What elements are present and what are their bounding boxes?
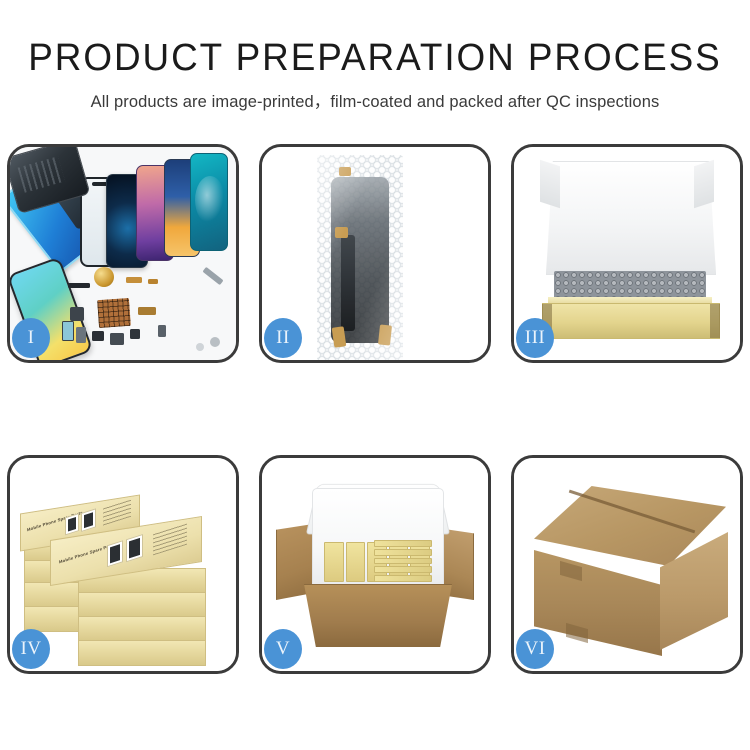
process-step-card-4[interactable]: Mobile Phone Spare Parts Mobile Phone Sp…: [7, 455, 239, 674]
process-step-card-2[interactable]: II: [259, 144, 491, 363]
process-step-card-1[interactable]: I: [7, 144, 239, 363]
spare-part-piece: [70, 307, 84, 321]
carton-left-face: [534, 550, 662, 656]
spare-part-piece: [62, 321, 74, 341]
box-label-screen-image: [107, 540, 123, 567]
page-title: PRODUCT PREPARATION PROCESS: [11, 38, 739, 78]
box-label-screen-image: [126, 534, 143, 562]
tape-tab: [378, 324, 392, 345]
step-badge-5: V: [264, 629, 302, 669]
spare-part-piece: [210, 337, 220, 347]
spare-part-piece: [126, 277, 142, 283]
logic-board-chip: [97, 298, 131, 328]
step-badge-2: II: [264, 318, 302, 358]
tweezers-tool: [202, 267, 223, 285]
tape-tab: [332, 326, 347, 347]
box-stack: Mobile Phone Spare Parts Mobile Phone Sp…: [16, 476, 236, 666]
spare-part-piece: [76, 327, 86, 343]
carton-body: [304, 584, 452, 647]
page-subtitle: All products are image-printed，film-coat…: [0, 88, 750, 112]
process-step-grid: I II III: [0, 144, 750, 674]
yellow-boxes-stacked: [374, 540, 432, 582]
spare-part-piece: [130, 329, 140, 339]
stacked-box: [78, 616, 206, 642]
tape-tab: [335, 227, 348, 238]
step-badge-1: I: [12, 318, 50, 358]
page-header: PRODUCT PREPARATION PROCESS All products…: [0, 0, 750, 112]
spare-part-piece: [138, 307, 156, 315]
box-label-spec-lines: [153, 523, 187, 556]
yellow-box-front: [542, 303, 720, 339]
step-badge-6: VI: [516, 629, 554, 669]
process-step-card-3[interactable]: III: [511, 144, 743, 363]
process-step-card-5[interactable]: V: [259, 455, 491, 674]
flex-cable: [341, 235, 355, 331]
stacked-box: [78, 640, 206, 666]
vibration-motor-part: [94, 267, 114, 287]
screen-assembly: [331, 177, 389, 343]
box-lid-flap-right: [694, 160, 714, 208]
spare-part-piece: [196, 343, 204, 351]
tape-tab: [339, 167, 351, 176]
step-badge-4: IV: [12, 629, 50, 669]
box-label-screen-image: [81, 508, 96, 532]
box-label-spec-lines: [103, 499, 131, 526]
box-label-screen-image: [65, 513, 79, 535]
spare-part-piece: [92, 331, 104, 341]
spare-part-piece: [148, 279, 158, 284]
phone-teal-gradient: [190, 153, 228, 251]
spare-part-piece: [158, 325, 166, 337]
spare-part-piece: [68, 283, 90, 288]
spare-part-piece: [110, 333, 124, 345]
box-lid-flap-left: [540, 160, 560, 208]
box-inner-lid: [546, 161, 716, 275]
process-step-card-6[interactable]: VI: [511, 455, 743, 674]
bubble-wrap-bag: [317, 155, 403, 360]
stacked-box: [78, 592, 206, 618]
step-badge-3: III: [516, 318, 554, 358]
